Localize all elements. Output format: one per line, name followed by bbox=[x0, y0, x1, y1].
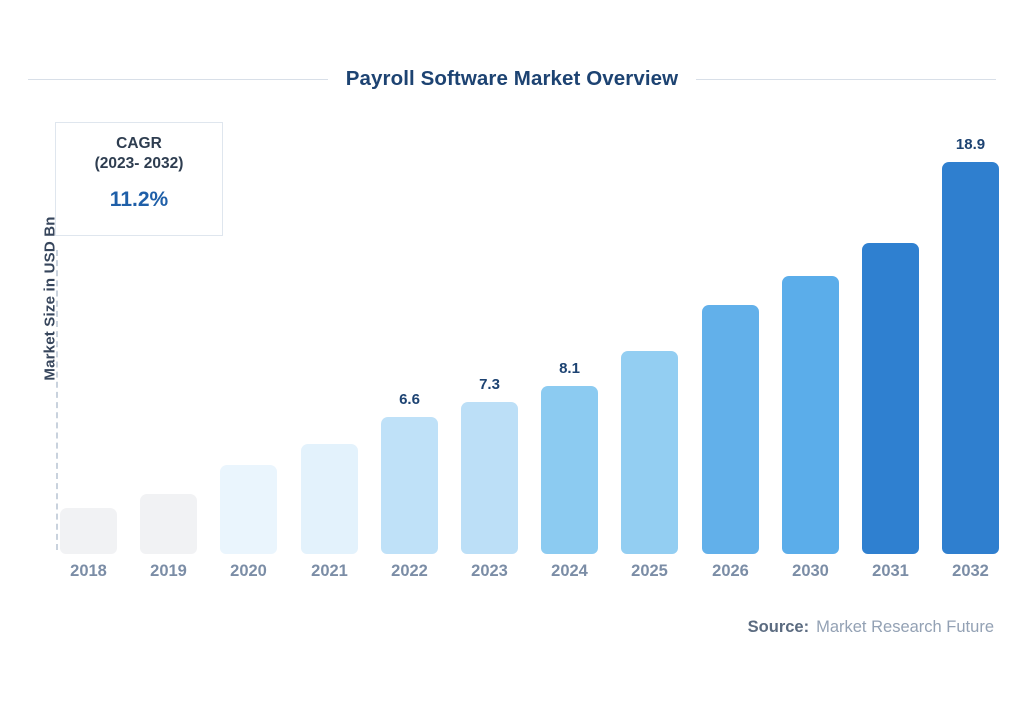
bar-column-2020[interactable] bbox=[220, 118, 277, 554]
bar-2032[interactable] bbox=[942, 162, 999, 554]
x-axis: 2018201920202021202220232024202520262030… bbox=[56, 562, 1008, 588]
bar-value-label-2024: 8.1 bbox=[541, 360, 598, 377]
bar-2025[interactable] bbox=[621, 351, 678, 554]
bar-value-label-2032: 18.9 bbox=[942, 136, 999, 153]
bar-2020[interactable] bbox=[220, 465, 277, 554]
bar-column-2018[interactable] bbox=[60, 118, 117, 554]
x-axis-tick-2023: 2023 bbox=[461, 562, 518, 581]
x-axis-tick-2018: 2018 bbox=[60, 562, 117, 581]
x-axis-tick-2024: 2024 bbox=[541, 562, 598, 581]
bar-column-2024[interactable]: 8.1 bbox=[541, 118, 598, 554]
bar-2030[interactable] bbox=[782, 276, 839, 554]
title-rule-left bbox=[28, 79, 328, 80]
page-title: Payroll Software Market Overview bbox=[346, 67, 678, 91]
bar-column-2031[interactable] bbox=[862, 118, 919, 554]
bar-value-label-2023: 7.3 bbox=[461, 376, 518, 393]
bar-column-2026[interactable] bbox=[702, 118, 759, 554]
bar-column-2019[interactable] bbox=[140, 118, 197, 554]
bar-column-2021[interactable] bbox=[301, 118, 358, 554]
bar-column-2023[interactable]: 7.3 bbox=[461, 118, 518, 554]
bar-2018[interactable] bbox=[60, 508, 117, 554]
bar-value-label-2022: 6.6 bbox=[381, 391, 438, 408]
bar-2023[interactable] bbox=[461, 402, 518, 554]
x-axis-tick-2019: 2019 bbox=[140, 562, 197, 581]
bar-column-2030[interactable] bbox=[782, 118, 839, 554]
bar-2024[interactable] bbox=[541, 386, 598, 554]
bar-2031[interactable] bbox=[862, 243, 919, 554]
source-label: Source: bbox=[748, 618, 809, 637]
plot-area: 6.67.38.118.9 bbox=[56, 118, 1008, 554]
title-rule-right bbox=[696, 79, 996, 80]
x-axis-tick-2032: 2032 bbox=[942, 562, 999, 581]
chart-card: Payroll Software Market Overview CAGR (2… bbox=[0, 0, 1024, 708]
x-axis-tick-2020: 2020 bbox=[220, 562, 277, 581]
x-axis-tick-2026: 2026 bbox=[702, 562, 759, 581]
chart-title-row: Payroll Software Market Overview bbox=[0, 60, 1024, 98]
bar-2021[interactable] bbox=[301, 444, 358, 554]
bar-2022[interactable] bbox=[381, 417, 438, 554]
x-axis-tick-2025: 2025 bbox=[621, 562, 678, 581]
source-value: Market Research Future bbox=[816, 618, 994, 637]
x-axis-tick-2030: 2030 bbox=[782, 562, 839, 581]
bar-column-2025[interactable] bbox=[621, 118, 678, 554]
x-axis-tick-2031: 2031 bbox=[862, 562, 919, 581]
bar-column-2032[interactable]: 18.9 bbox=[942, 118, 999, 554]
bar-2019[interactable] bbox=[140, 494, 197, 554]
x-axis-tick-2022: 2022 bbox=[381, 562, 438, 581]
bar-2026[interactable] bbox=[702, 305, 759, 554]
bar-column-2022[interactable]: 6.6 bbox=[381, 118, 438, 554]
source-row: Source: Market Research Future bbox=[748, 618, 994, 637]
x-axis-tick-2021: 2021 bbox=[301, 562, 358, 581]
